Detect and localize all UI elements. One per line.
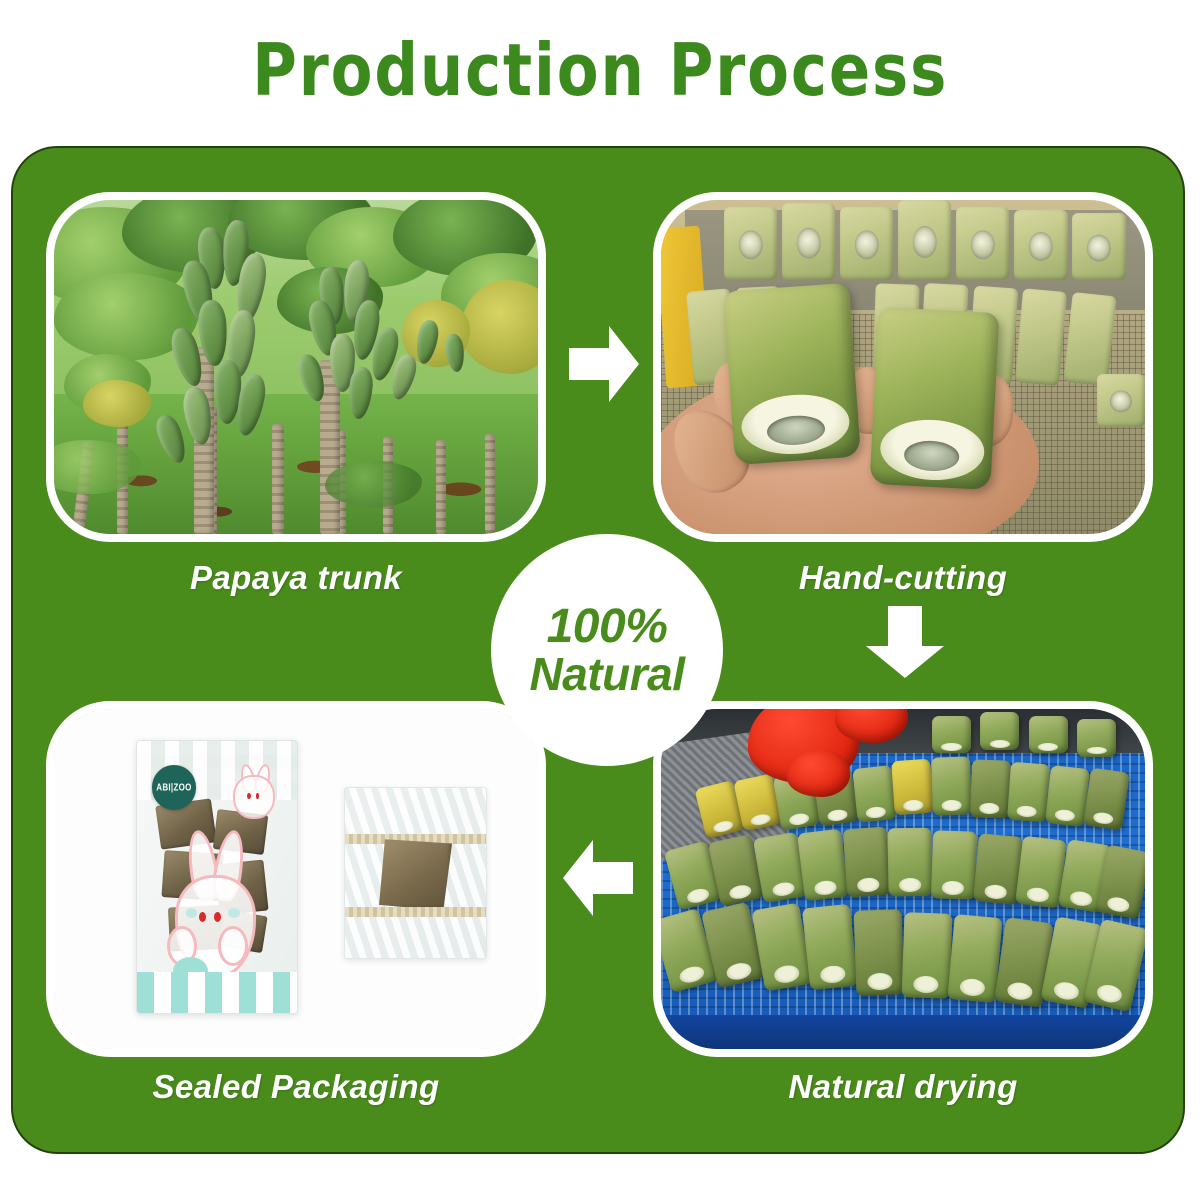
arrow-down-right-icon <box>864 606 946 678</box>
badge-line-2: Natural <box>530 651 685 698</box>
bunny-illustration <box>163 839 262 980</box>
process-panel: ABI|ZOO <box>11 146 1185 1154</box>
step-2-caption: Hand-cutting <box>653 559 1153 597</box>
step-2-photo-frame <box>653 192 1153 542</box>
plain-sealed-bag <box>344 787 486 959</box>
step-3-caption: Natural drying <box>653 1068 1153 1106</box>
step-3-photo-frame <box>653 701 1153 1057</box>
papaya-orchard-image <box>54 200 538 534</box>
sealed-packaging-image: ABI|ZOO <box>54 709 538 1049</box>
retail-bag: ABI|ZOO <box>136 740 298 1014</box>
step-1-caption: Papaya trunk <box>46 559 546 597</box>
page-title: Production Process <box>252 34 948 106</box>
page-header: Production Process <box>0 24 1200 116</box>
hand-cutting-image <box>661 200 1145 534</box>
step-4-caption: Sealed Packaging <box>46 1068 546 1106</box>
small-bunny-illustration <box>233 765 275 819</box>
arrow-left-bottom-icon <box>561 838 633 918</box>
badge-line-1: 100% <box>547 602 668 651</box>
step-1-photo-frame <box>46 192 546 542</box>
brand-logo-text: ABI|ZOO <box>156 782 191 793</box>
arrow-right-top-icon <box>569 324 639 404</box>
natural-drying-image <box>661 709 1145 1049</box>
brand-logo-badge: ABI|ZOO <box>152 765 197 810</box>
step-4-photo-frame: ABI|ZOO <box>46 701 546 1057</box>
